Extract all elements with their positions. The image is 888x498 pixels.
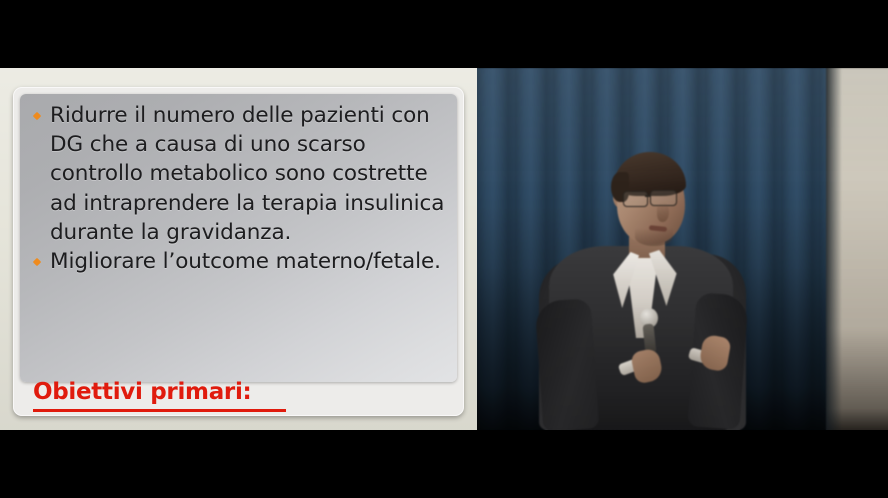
list-item: Ridurre il numero delle pazienti con DG …: [30, 101, 451, 247]
slide-heading-underline: [33, 409, 286, 412]
speaker-glasses-bridge: [645, 195, 651, 197]
speaker-nose: [657, 202, 669, 222]
slide-bullet-list: Ridurre il numero delle pazienti con DG …: [30, 101, 451, 276]
video-player-frame: Ridurre il numero delle pazienti con DG …: [0, 0, 888, 498]
slide-heading-text: Obiettivi primari:: [33, 379, 251, 405]
slide-heading: Obiettivi primari:: [33, 379, 251, 405]
list-item: Migliorare l’outcome materno/fetale.: [30, 247, 451, 276]
presentation-slide-pane: Ridurre il numero delle pazienti con DG …: [0, 68, 477, 430]
speaker-camera-pane: [477, 68, 888, 430]
bullet-text: Ridurre il numero delle pazienti con DG …: [50, 103, 444, 245]
bullet-diamond-icon: [33, 258, 41, 266]
bullet-text: Migliorare l’outcome materno/fetale.: [50, 249, 441, 274]
letterbox-bar-bottom: [0, 430, 888, 498]
speaker-figure: [477, 68, 888, 430]
slide-content-box: Ridurre il numero delle pazienti con DG …: [20, 94, 457, 382]
split-screen-content: Ridurre il numero delle pazienti con DG …: [0, 68, 888, 430]
letterbox-bar-top: [0, 0, 888, 68]
slide-card: Ridurre il numero delle pazienti con DG …: [13, 87, 464, 416]
speaker-left-arm: [535, 298, 600, 430]
speaker-glasses-left-lens: [623, 191, 648, 207]
bullet-diamond-icon: [33, 112, 41, 120]
speaker-chin-shadow: [635, 228, 673, 246]
